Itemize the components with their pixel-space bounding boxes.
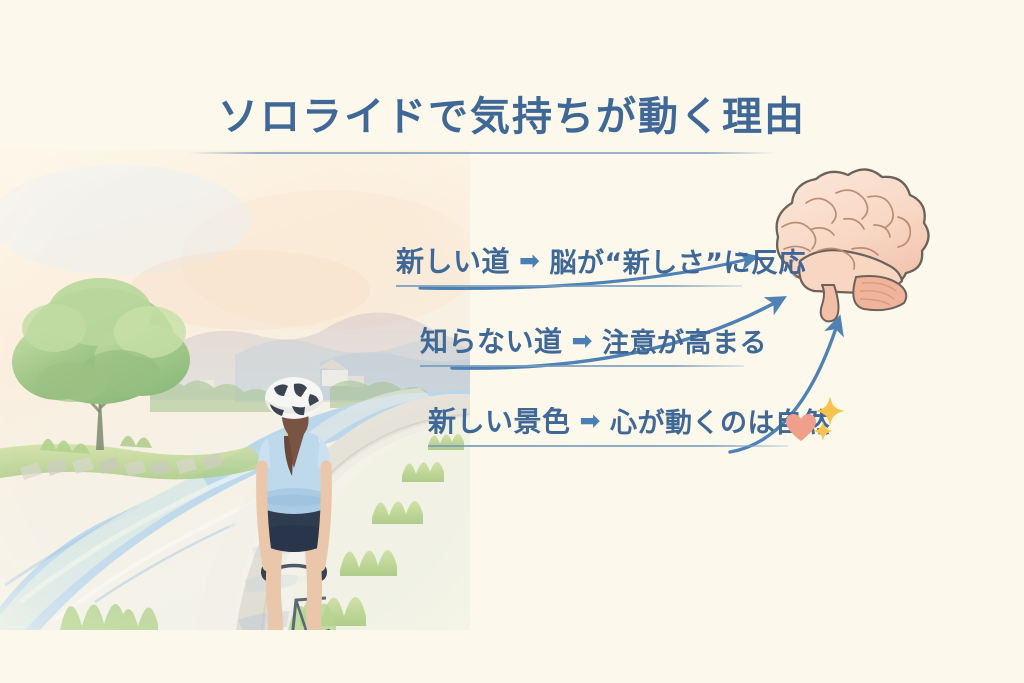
statement-underline-2 (420, 365, 744, 367)
statement-underline-1 (396, 285, 742, 287)
statement-line: 新しい景色 ➡ 心が動くのは自然 (428, 400, 830, 440)
heart-icon (786, 414, 816, 442)
title-underline (188, 152, 776, 154)
right-arrow-icon-3: ➡ (578, 408, 603, 433)
right-arrow-icon-1: ➡ (517, 248, 542, 273)
statement-row-2: 知らない道 ➡ 注意が高まる (420, 320, 767, 367)
riverside-cycling-illustration (0, 150, 470, 630)
effect-text-2: 注意が高まる (602, 321, 767, 360)
infographic-canvas: ソロライドで気持ちが動く理由 新しい道 ➡ 脳が“新しさ”に反応 知らない道 ➡… (0, 0, 1024, 683)
title-block: ソロライドで気持ちが動く理由 (0, 92, 1024, 142)
statement-underline-3 (428, 445, 788, 447)
statement-line: 知らない道 ➡ 注意が高まる (420, 320, 767, 360)
sparkle-icon-small (813, 421, 833, 441)
cause-text-2: 知らない道 (420, 320, 563, 360)
right-arrow-icon-2: ➡ (570, 328, 595, 353)
cause-text-1: 新しい道 (396, 240, 510, 280)
statement-row-3: 新しい景色 ➡ 心が動くのは自然 (428, 400, 830, 447)
cause-text-3: 新しい景色 (428, 400, 571, 440)
effect-text-1: 脳が“新しさ”に反応 (549, 241, 806, 280)
statement-row-1: 新しい道 ➡ 脳が“新しさ”に反応 (396, 240, 806, 287)
page-title: ソロライドで気持ちが動く理由 (0, 92, 1024, 142)
statement-line: 新しい道 ➡ 脳が“新しさ”に反応 (396, 240, 806, 280)
